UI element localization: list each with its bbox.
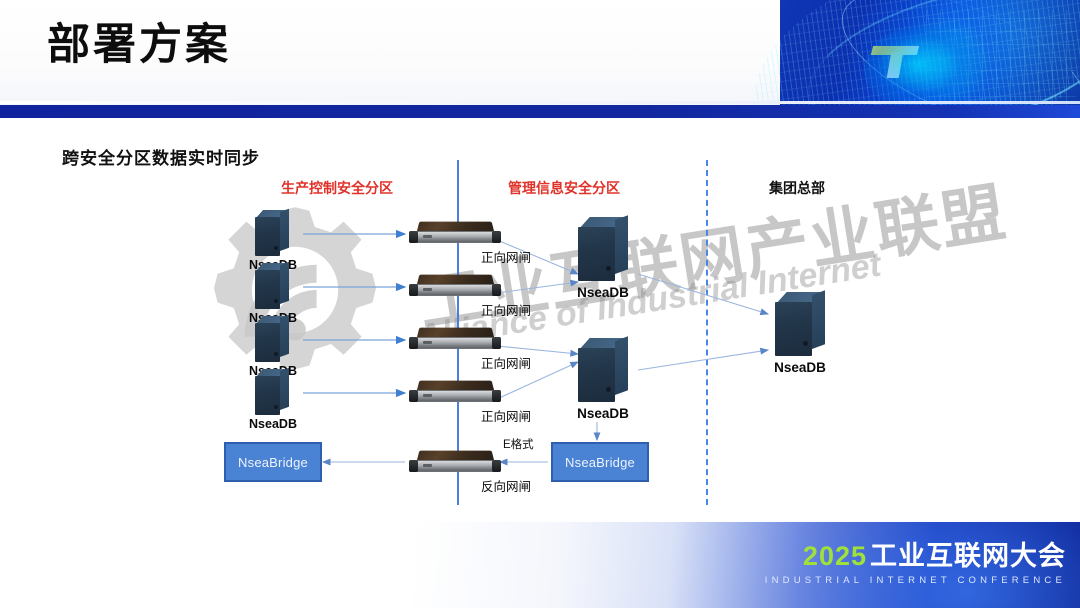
slide-header: 部署方案 bbox=[0, 0, 1080, 118]
page-title: 部署方案 bbox=[47, 24, 231, 67]
rack-slot bbox=[423, 464, 432, 467]
rack-ear-right bbox=[492, 460, 501, 472]
conference-year: 2025 bbox=[803, 541, 867, 571]
server-icon bbox=[255, 210, 289, 256]
gateway-forward-2[interactable]: 正向网闸 bbox=[409, 274, 501, 300]
server-icon bbox=[578, 338, 628, 402]
server-icon bbox=[578, 217, 628, 281]
rack-ear-right bbox=[492, 284, 501, 296]
server-nseadb-prod-3[interactable]: NseaDB bbox=[255, 316, 289, 362]
rack-ear-right bbox=[492, 231, 501, 243]
format-label: E格式 bbox=[503, 436, 534, 452]
server-nseadb-mgmt-1[interactable]: NseaDB bbox=[578, 217, 628, 281]
gateway-reverse-label: 反向网闸 bbox=[481, 476, 557, 495]
server-nseadb-prod-1[interactable]: NseaDB bbox=[255, 210, 289, 256]
t-logo-icon bbox=[872, 46, 918, 78]
server-nseadb-prod-4[interactable]: NseaDB bbox=[255, 369, 289, 415]
server-label: NseaDB bbox=[566, 285, 640, 300]
server-icon bbox=[255, 369, 289, 415]
gateway-forward-4[interactable]: 正向网闸 bbox=[409, 380, 501, 406]
bridge-label: NseaBridge bbox=[565, 455, 635, 470]
bridge-left[interactable]: NseaBridge bbox=[224, 442, 322, 482]
gateway-reverse[interactable]: 反向网闸 bbox=[409, 450, 501, 476]
gateway-label: 正向网闸 bbox=[481, 247, 557, 266]
rack-slot bbox=[423, 341, 432, 344]
bridge-right[interactable]: NseaBridge bbox=[551, 442, 649, 482]
server-nseadb-prod-2[interactable]: NseaDB bbox=[255, 263, 289, 309]
bridge-label: NseaBridge bbox=[238, 455, 308, 470]
rack-ear-left bbox=[409, 231, 418, 243]
conference-name-cn: 工业互联网大会 bbox=[870, 541, 1066, 571]
server-label: NseaDB bbox=[763, 360, 837, 375]
rack-slot bbox=[423, 235, 432, 238]
gateway-forward-3[interactable]: 正向网闸 bbox=[409, 327, 501, 353]
slide-footer: 2025工业互联网大会 INDUSTRIAL INTERNET CONFEREN… bbox=[0, 522, 1080, 608]
server-nseadb-hq[interactable]: NseaDB bbox=[775, 292, 825, 356]
gateway-label: 正向网闸 bbox=[481, 300, 557, 319]
rack-slot bbox=[423, 288, 432, 291]
connector-arrows bbox=[0, 122, 1080, 522]
gateway-label: 正向网闸 bbox=[481, 353, 557, 372]
server-nseadb-mgmt-2[interactable]: NseaDB bbox=[578, 338, 628, 402]
rack-slot bbox=[423, 394, 432, 397]
server-icon bbox=[775, 292, 825, 356]
conference-name-en: INDUSTRIAL INTERNET CONFERENCE bbox=[765, 575, 1066, 586]
header-rule bbox=[0, 105, 1080, 118]
rack-ear-right bbox=[492, 337, 501, 349]
rack-ear-left bbox=[409, 284, 418, 296]
gateway-forward-1[interactable]: 正向网闸 bbox=[409, 221, 501, 247]
gateway-label: 正向网闸 bbox=[481, 406, 557, 425]
rack-ear-right bbox=[492, 390, 501, 402]
server-label: NseaDB bbox=[244, 417, 302, 431]
server-icon bbox=[255, 316, 289, 362]
rack-ear-left bbox=[409, 337, 418, 349]
header-rule-highlight bbox=[0, 101, 1080, 104]
server-label: NseaDB bbox=[566, 406, 640, 421]
server-icon bbox=[255, 263, 289, 309]
rack-ear-left bbox=[409, 390, 418, 402]
rack-ear-left bbox=[409, 460, 418, 472]
slide-body: 跨安全分区数据实时同步 工业互联网产业联盟 Alliance of Indust… bbox=[0, 122, 1080, 522]
circuit-grid-icon bbox=[926, 10, 1076, 110]
conference-logo: 2025工业互联网大会 INDUSTRIAL INTERNET CONFEREN… bbox=[765, 543, 1066, 586]
